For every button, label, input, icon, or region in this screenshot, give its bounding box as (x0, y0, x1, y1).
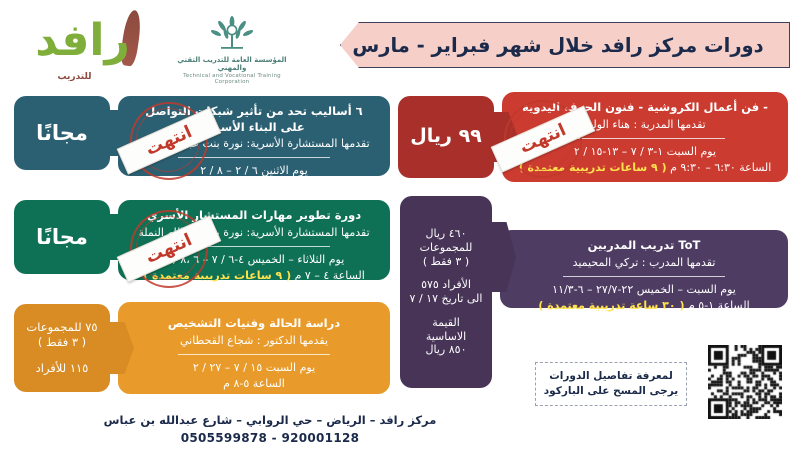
qr-note-line-2: يرجى المسح على الباركود (544, 384, 678, 399)
price-tag-case-study-diagnosis: ٧٥ للمجموعات ( ٣ فقط ) ١١٥ للأفراد (14, 304, 110, 392)
price-line: للمجموعات (420, 241, 473, 255)
price-line: الاساسية (426, 330, 466, 344)
course-hours: ( ٩ ساعات تدريبية معتمدة ) (519, 161, 667, 174)
card-divider (178, 354, 329, 355)
course-time: الساعة ٦:٣٠ – ٩:٣٠ م ( ٩ ساعات تدريبية م… (516, 160, 774, 176)
tvtc-name-ar: المؤسسة العامة للتدريب التقني والمهني (168, 56, 296, 73)
course-title: دورة تطوير مهارات المستشار الأسري (132, 208, 376, 224)
course-title: ٦ أساليب تحد من تأثير شبكات التواصل على … (132, 104, 376, 135)
course-card-social-media-family[interactable]: ٦ أساليب تحد من تأثير شبكات التواصل على … (118, 96, 390, 176)
price-tag-social-media-family: مجانًا (14, 96, 110, 170)
qr-instruction-box: لمعرفة تفاصيل الدورات يرجى المسح على الب… (535, 362, 687, 406)
tvtc-palm-icon (209, 14, 255, 54)
course-hours: ( ٩ ساعات تدريبية معتمدة ) (143, 269, 291, 282)
price-line: ٨٥٠ ريال (426, 343, 467, 357)
price-line: الى تاريخ ١٧ / ٧ (410, 292, 483, 306)
course-card-tot-training[interactable]: ToT تدريب المدربين تقدمها المدرب : تركي … (500, 230, 788, 308)
course-title: - فن أعمال الكروشية - فنون الحرف اليدوية (516, 100, 774, 116)
course-time: الساعة ١-٥ م ( ٣٠ ساعة تدريبية معتمدة ) (514, 298, 774, 314)
tvtc-name-en: Technical and Vocational Training Corpor… (168, 73, 296, 85)
course-date: يوم الاثنين ٦ / ٢ – ٨ / ٢ (132, 163, 376, 179)
tvtc-logo: المؤسسة العامة للتدريب التقني والمهني Te… (168, 14, 296, 80)
price-line: ٤٦٠ ريال (426, 227, 467, 241)
course-hours: ( ٣٠ ساعة تدريبية معتمدة ) (538, 299, 684, 312)
price-value: ٩٩ ريال (410, 125, 482, 149)
qr-note-line-1: لمعرفة تفاصيل الدورات (544, 369, 678, 384)
footer-phones: 920001128 - 0505599878 (0, 429, 540, 447)
price-line: ٧٥ للمجموعات (26, 320, 97, 334)
price-line: القيمة (432, 316, 460, 330)
course-card-case-study-diagnosis[interactable]: دراسة الحالة وفنيات التشخيص يقدمها الدكت… (118, 302, 390, 394)
price-line: ١١٥ للأفراد (36, 361, 89, 375)
course-trainer: تقدمها المدرب : تركي المحيميد (514, 255, 774, 270)
course-time-text: الساعة ٦:٣٠ – ٩:٣٠ م (670, 161, 771, 174)
poster-canvas: رافد للتدريب المؤسسة العامة للتدريب الت (0, 0, 800, 450)
course-date: يوم الثلاثاء – الخميس ٤-٦ / ٧ – ٦ ،٨ / ٢ (132, 252, 376, 268)
course-time-text: الساعة ٤ – ٧ م (295, 269, 365, 282)
page-title: دورات مركز رافد خلال شهر فبراير - مارس (352, 34, 777, 57)
course-time: الساعة ٥-٨ م (132, 376, 376, 392)
card-divider (178, 157, 329, 158)
rafid-logo-subtitle: للتدريب (34, 72, 115, 82)
course-title: دراسة الحالة وفنيات التشخيص (132, 316, 376, 332)
course-title: ToT تدريب المدربين (514, 238, 774, 254)
course-time: الساعة ٦-٨ م (132, 179, 376, 195)
price-tag-family-counselor-skills: مجانًا (14, 200, 110, 274)
course-date: يوم السبت – الخميس ٢٢-٢٧/٧ – ٦-١١/٣ (514, 282, 774, 298)
course-trainer: يقدمها الدكتور : شجاع القحطاني (132, 333, 376, 348)
course-time: الساعة ٤ – ٧ م ( ٩ ساعات تدريبية معتمدة … (132, 268, 376, 284)
price-tag-tot-training: ٤٦٠ ريال للمجموعات ( ٣ فقط ) الأفراد ٥٧٥… (400, 196, 492, 388)
footer: مركز رافد – الرياض – حي الروابي – شارع ع… (0, 412, 540, 447)
price-value: مجانًا (36, 224, 88, 250)
course-date: يوم السبت ١٥ / ٧ – ٢٧ / ٢ (132, 360, 376, 376)
course-date: يوم السبت ١-٣ / ٧ – ١٣-١٥ / ٢ (516, 144, 774, 160)
card-divider (563, 276, 724, 277)
course-trainer: تقدمها المستشارة الأسرية: نورة بنت عبدال… (132, 225, 376, 240)
rafid-logo: رافد للتدريب (20, 8, 145, 86)
course-time-text: الساعة ١-٥ م (688, 299, 750, 312)
price-line: ( ٣ فقط ) (38, 335, 86, 349)
poster-title-banner: دورات مركز رافد خلال شهر فبراير - مارس (340, 22, 790, 68)
footer-address: مركز رافد – الرياض – حي الروابي – شارع ع… (0, 412, 540, 429)
qr-code[interactable] (708, 345, 782, 419)
card-divider (178, 246, 329, 247)
course-trainer: تقدمها المدربة : هناء الوليد (516, 117, 774, 132)
price-value: مجانًا (36, 120, 88, 146)
qr-code-canvas[interactable] (708, 345, 782, 419)
course-card-family-counselor-skills[interactable]: دورة تطوير مهارات المستشار الأسري تقدمها… (118, 200, 390, 280)
price-line: ( ٣ فقط ) (423, 255, 469, 269)
price-tag-crochet-handicraft: ٩٩ ريال (398, 96, 494, 178)
price-line: الأفراد ٥٧٥ (421, 278, 471, 292)
course-card-crochet-handicraft[interactable]: - فن أعمال الكروشية - فنون الحرف اليدوية… (502, 92, 788, 182)
card-divider (565, 138, 725, 139)
course-trainer: تقدمها المستشارة الأسرية: نورة بنت عبدال… (132, 136, 376, 151)
